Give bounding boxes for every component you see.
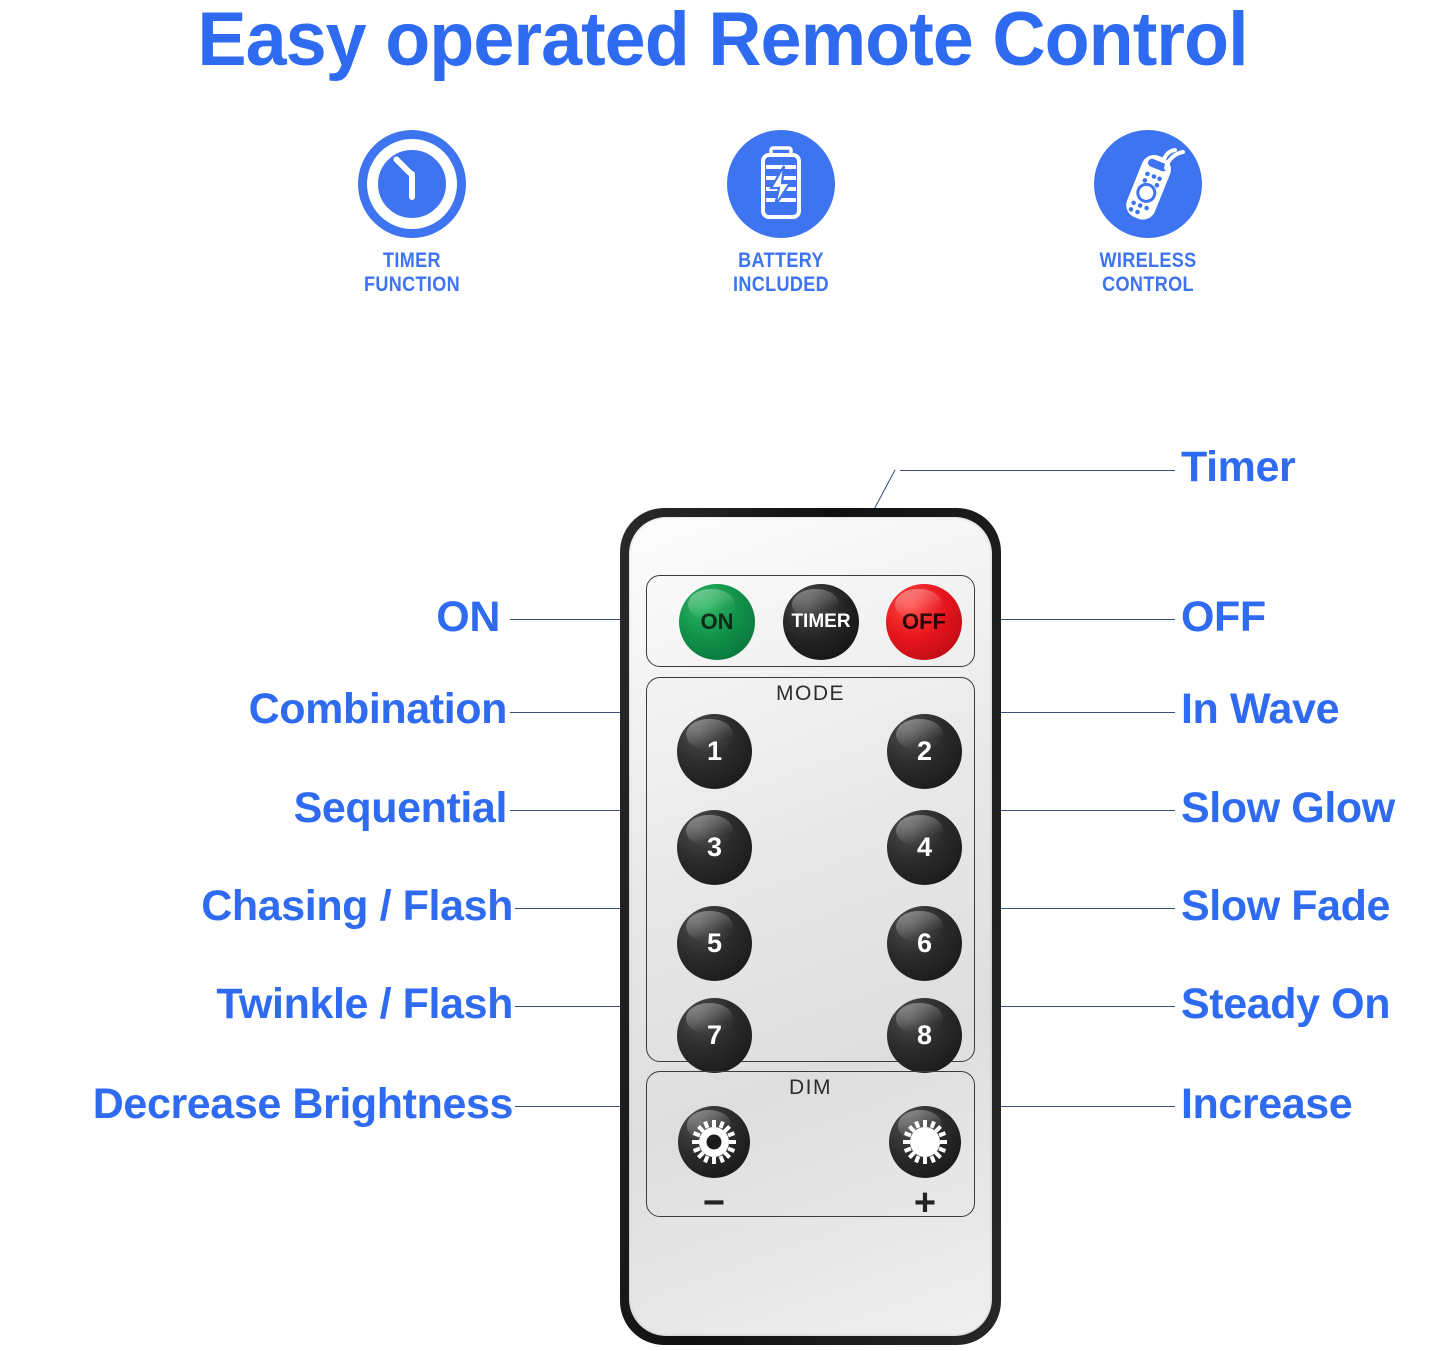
feature-label-line1: WIRELESS: [1028, 249, 1269, 273]
leader-increase: [1000, 1106, 1175, 1107]
feature-label-line1: TIMER: [292, 249, 533, 273]
callout-off: OFF: [1181, 596, 1266, 639]
remote-signal-icon: [1094, 130, 1202, 238]
feature-badges: TIMER FUNCTION BATTERY INCLUDED: [0, 130, 1445, 315]
dim-panel: DIM: [646, 1071, 975, 1217]
battery-icon: [727, 130, 835, 238]
callout-combination: Combination: [249, 688, 507, 731]
off-button[interactable]: OFF: [886, 584, 962, 660]
on-button[interactable]: ON: [679, 584, 755, 660]
page-title: Easy operated Remote Control: [22, 2, 1424, 78]
feature-label-line2: FUNCTION: [292, 273, 533, 297]
dim-decrease-sign: −: [678, 1184, 750, 1222]
callout-sequential: Sequential: [294, 787, 507, 830]
feature-wireless-control: WIRELESS CONTROL: [1008, 130, 1288, 296]
mode-button-2[interactable]: 2: [887, 714, 962, 789]
leader-slowglow: [1000, 810, 1175, 811]
leader-on: [510, 619, 625, 620]
feature-battery-included: BATTERY INCLUDED: [641, 130, 921, 296]
dim-decrease-button[interactable]: [678, 1106, 750, 1178]
sun-bright-icon: [889, 1106, 961, 1178]
feature-label-line2: CONTROL: [1028, 273, 1269, 297]
callout-on: ON: [436, 596, 500, 639]
remote-control: ON TIMER OFF MODE 1 2 3 4 5 6 7 8 DIM: [620, 508, 1001, 1345]
mode-button-1[interactable]: 1: [677, 714, 752, 789]
timer-button[interactable]: TIMER: [783, 584, 859, 660]
dim-section-title: DIM: [647, 1076, 974, 1100]
dim-increase-button[interactable]: [889, 1106, 961, 1178]
callout-in-wave: In Wave: [1181, 688, 1339, 731]
remote-faceplate: ON TIMER OFF MODE 1 2 3 4 5 6 7 8 DIM: [629, 517, 992, 1336]
power-panel: ON TIMER OFF: [646, 575, 975, 667]
mode-button-8[interactable]: 8: [887, 998, 962, 1073]
callout-slow-fade: Slow Fade: [1181, 885, 1390, 928]
mode-section-title: MODE: [647, 682, 974, 706]
leader-steadyon: [1000, 1006, 1175, 1007]
callout-increase: Increase: [1181, 1083, 1352, 1126]
mode-button-4[interactable]: 4: [887, 810, 962, 885]
leader-slowfade: [1000, 908, 1175, 909]
clock-icon: [358, 130, 466, 238]
callout-chasing-flash: Chasing / Flash: [201, 885, 513, 928]
feature-label-line1: BATTERY: [661, 249, 902, 273]
mode-button-5[interactable]: 5: [677, 906, 752, 981]
leader-timer-h: [900, 470, 1175, 471]
callout-slow-glow: Slow Glow: [1181, 787, 1395, 830]
mode-panel: MODE 1 2 3 4 5 6 7 8: [646, 677, 975, 1062]
callout-steady-on: Steady On: [1181, 983, 1390, 1026]
callout-decrease-brightness: Decrease Brightness: [93, 1083, 513, 1126]
mode-button-6[interactable]: 6: [887, 906, 962, 981]
sun-dim-icon: [678, 1106, 750, 1178]
feature-label-line2: INCLUDED: [661, 273, 902, 297]
mode-button-7[interactable]: 7: [677, 998, 752, 1073]
feature-timer-function: TIMER FUNCTION: [272, 130, 552, 296]
mode-button-3[interactable]: 3: [677, 810, 752, 885]
callout-timer: Timer: [1181, 446, 1295, 489]
dim-increase-sign: +: [889, 1184, 961, 1222]
callout-twinkle-flash: Twinkle / Flash: [216, 983, 513, 1026]
